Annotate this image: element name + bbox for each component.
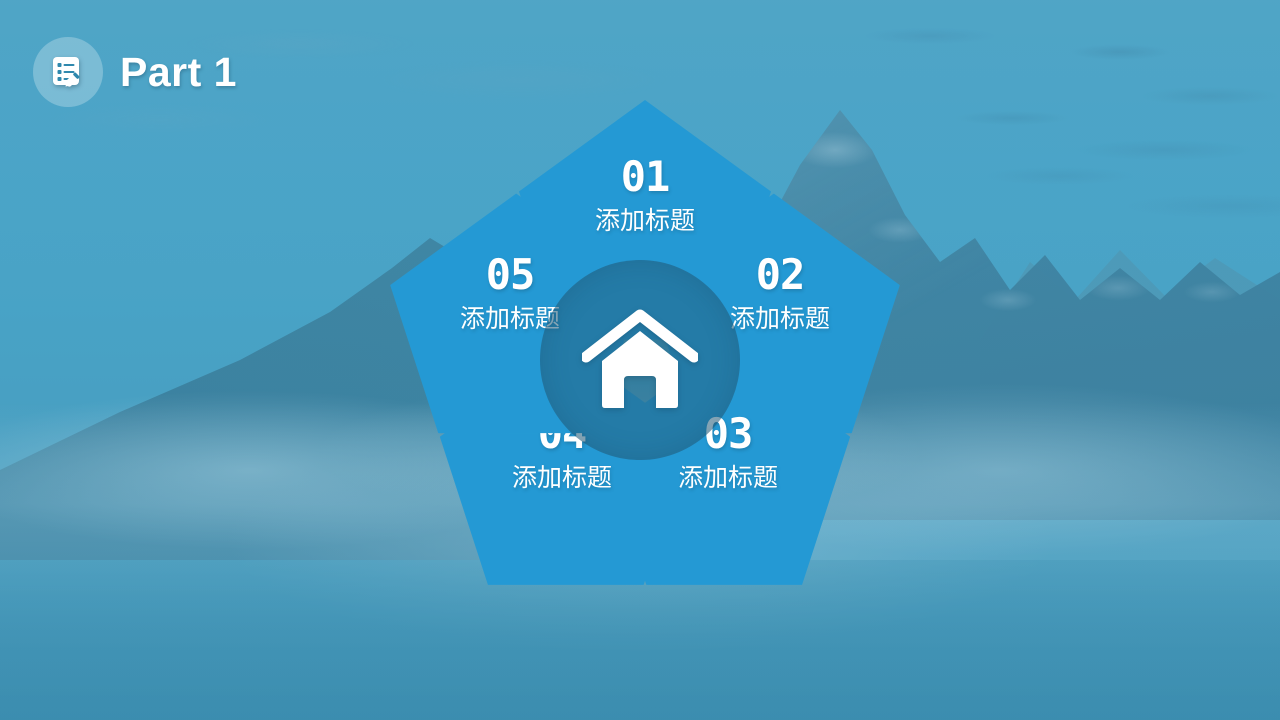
home-icon <box>582 309 698 411</box>
slide-canvas: Part 1 01 添加标题 02 添加标题 03 添加标题 <box>0 0 1280 720</box>
diagram-center-hub[interactable] <box>540 260 740 460</box>
slide-header: Part 1 <box>33 37 237 107</box>
pentagon-diagram: 01 添加标题 02 添加标题 03 添加标题 04 添加标题 <box>0 0 1280 720</box>
edit-document-icon <box>48 52 88 92</box>
header-badge <box>33 37 103 107</box>
page-title: Part 1 <box>120 52 237 93</box>
